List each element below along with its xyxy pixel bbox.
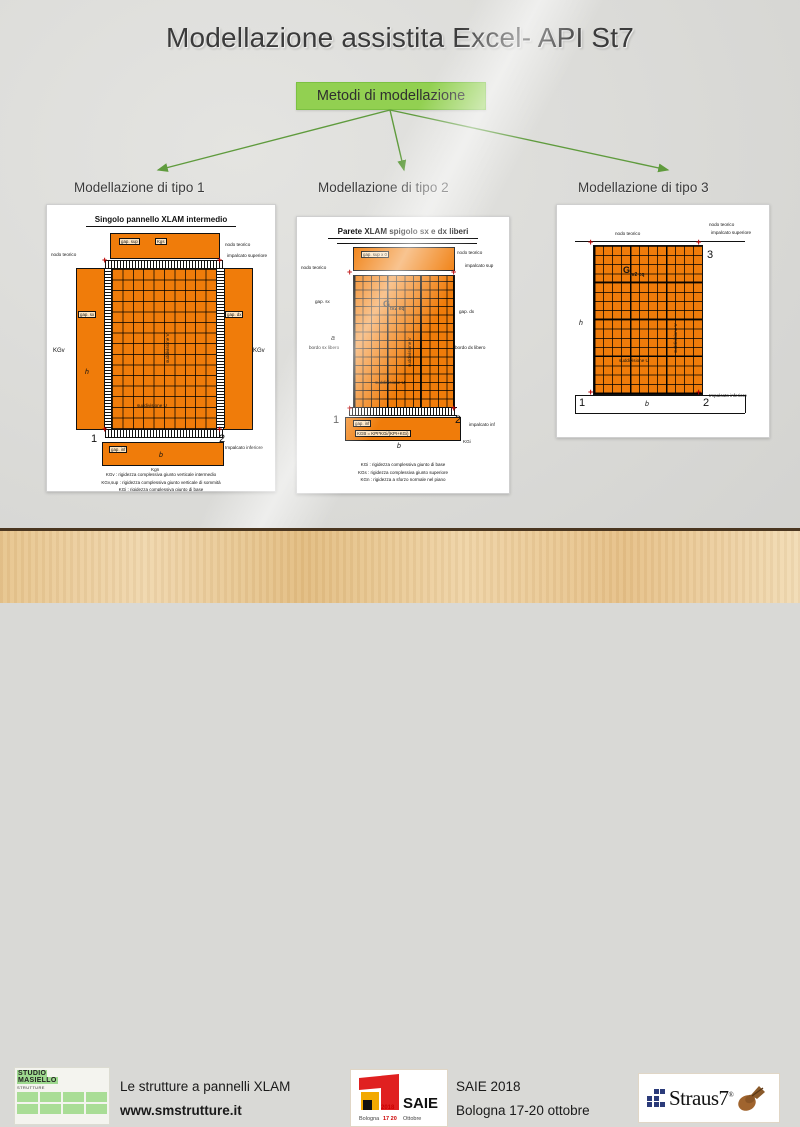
floor-top-label: impalcato superiore: [711, 230, 751, 235]
top-rule: [337, 243, 477, 244]
callout-1: 1: [579, 397, 585, 409]
dim-h-label: h: [85, 369, 89, 376]
floor-bottom-label: Impalcato inferiore: [709, 393, 747, 398]
top-rule: [575, 241, 745, 242]
gap-inf-label: gap. inf: [353, 420, 371, 427]
callout-2: 2: [703, 397, 709, 409]
gap-sup-label: gap. sup x 0: [361, 251, 389, 258]
side-solid-left: [76, 268, 106, 430]
top-beam: [110, 233, 220, 259]
floor-bottom-label: impalcato inf: [469, 422, 495, 427]
gap-sup-label: gap. sup: [119, 238, 140, 245]
dim-h-label: h: [579, 320, 583, 327]
node-marker-left-bottom: +: [588, 389, 593, 396]
logo-word-masiello: MASIELLO: [17, 1077, 107, 1084]
diagram-2-title: Parete XLAM spigolo sx e dx liberi: [297, 227, 509, 239]
node-marker-right: +: [451, 269, 456, 276]
gap-inf-label: gap. inf: [109, 446, 127, 453]
spring-bottom: [349, 407, 457, 416]
diagram-card-2: Parete XLAM spigolo sx e dx liberi gap. …: [296, 216, 510, 494]
subdivision-u-label: suddivisione U: [375, 380, 405, 385]
dim-b-label: b: [645, 401, 649, 408]
presentation-slide: Modellazione assistita Excel- API St7 Me…: [0, 0, 800, 600]
studio-masiello-logo: STUDIO MASIELLO STRUTTURE: [14, 1067, 110, 1125]
methods-box-label: Metodi di modellazione: [317, 88, 465, 104]
node-marker-left-bottom: +: [347, 405, 352, 412]
dim-b-label: b: [397, 443, 401, 450]
bordo-sx-label: bordo sx libero: [309, 345, 339, 350]
gap-sx-label: gap. sx: [315, 299, 330, 304]
shear-modulus-symbol: Gtv2 eq: [383, 299, 404, 312]
event-line-1: SAIE 2018: [456, 1079, 521, 1094]
logo-square-grid: [17, 1092, 107, 1114]
callout-2: 2: [219, 433, 225, 445]
legend-line: KGi : rigidezza complessiva giunto di ba…: [47, 486, 275, 492]
node-left-label: nodo teorico: [301, 265, 326, 270]
event-line-2: Bologna 17-20 ottobre: [456, 1103, 590, 1118]
subdivision-v-label: suddivisione V: [165, 333, 170, 363]
callout-2: 2: [455, 414, 461, 426]
side-solid-right: [223, 268, 253, 430]
subdivision-v-label: suddivisione V: [407, 337, 412, 367]
gap-sx-label: gap. sx: [78, 311, 96, 318]
node-right-label: nodo teorico: [225, 242, 250, 247]
node-marker-right: +: [696, 239, 701, 246]
diagram-2-legend: KGi : rigidezza complessiva giunto di ba…: [297, 461, 509, 484]
footer-band: STUDIO MASIELLO STRUTTURE Le strutture a…: [0, 528, 800, 603]
node-marker-left-bottom: +: [102, 426, 107, 433]
legend-line: KGi : rigidezza complessiva giunto di ba…: [297, 461, 509, 469]
node-marker-right: +: [217, 257, 222, 264]
callout-3: 3: [707, 249, 713, 261]
legend-line: KGv : rigidezza complessiva giunto verti…: [47, 471, 275, 479]
base-box-bottom: [575, 413, 745, 414]
node-marker-right-bottom: +: [451, 405, 456, 412]
footer-line-1: Le strutture a pannelli XLAM: [120, 1079, 290, 1094]
floor-bottom-label: Impalcato inferiore: [225, 445, 263, 450]
column-heading-1: Modellazione di tipo 1: [74, 180, 205, 195]
spring-right: [216, 268, 225, 428]
k-formula-label: KGB = KPI*KGi/(KPI+KGi): [355, 430, 411, 437]
legend-line: KGv,sup : rigidezza complessiva giunto v…: [47, 479, 275, 487]
node-marker-right-bottom: +: [696, 389, 701, 396]
svg-text:2018: 2018: [381, 1105, 395, 1111]
node-marker-left: +: [102, 257, 107, 264]
logo-word-strutture: STRUTTURE: [17, 1085, 107, 1090]
diagram-1-legend: KGv : rigidezza complessiva giunto verti…: [47, 471, 275, 492]
svg-text:17 20: 17 20: [383, 1116, 397, 1122]
column-heading-3: Modellazione di tipo 3: [578, 180, 709, 195]
node-marker-right-bottom: +: [217, 426, 222, 433]
svg-text:Bologna: Bologna: [359, 1116, 380, 1122]
dim-a-label: a: [331, 335, 335, 342]
subdivision-u-label: suddivisione U: [137, 403, 167, 408]
k-sup-label: Kgs: [155, 238, 167, 245]
subdivision-v-label: suddivisione V: [673, 323, 678, 353]
arrow-left-icon: [158, 110, 390, 170]
svg-text:Ottobre: Ottobre: [403, 1116, 421, 1122]
node-right-label: nodo teorico: [709, 222, 734, 227]
diagram-1-title: Singolo pannello XLAM intermedio: [47, 215, 275, 227]
dim-b-label: b: [159, 452, 163, 459]
logo-word-studio: STUDIO: [17, 1070, 107, 1077]
diagram-card-1: Singolo pannello XLAM intermedio gap. su…: [46, 204, 276, 492]
subdivision-u-label: suddivisione U: [619, 358, 649, 363]
node-left-label: nodo teorico: [615, 231, 640, 236]
diagram-card-3: Gtv2 eq suddivisione V suddivisione U b …: [556, 204, 770, 438]
spring-bottom: [105, 429, 223, 438]
violin-icon: [735, 1083, 769, 1113]
floor-top-label: impalcato sup: [465, 263, 493, 268]
gap-dx-label: gap. dx: [225, 311, 243, 318]
kgv-left-label: KGv: [53, 348, 65, 354]
column-heading-2: Modellazione di tipo 2: [318, 180, 449, 195]
svg-text:SAIE: SAIE: [403, 1095, 438, 1112]
mesh-panel: [353, 275, 455, 409]
node-right-label: nodo teorico: [457, 250, 482, 255]
mesh-panel: [593, 245, 703, 395]
kgi-right-label: KGi: [463, 439, 471, 444]
callout-1: 1: [91, 433, 97, 445]
straus7-blocks-icon: [647, 1089, 665, 1107]
node-left-label: nodo teorico: [51, 252, 76, 257]
page-title: Modellazione assistita Excel- API St7: [0, 22, 800, 54]
legend-line: KGs : rigidezza complessiva giunto super…: [297, 469, 509, 477]
floor-top-label: impalcato superiore: [227, 253, 267, 258]
base-box-left: [575, 395, 576, 413]
saie-logo: 2018 SAIE Bologna 17 20 Ottobre: [350, 1069, 448, 1127]
legend-line: KGn : rigidezza a sforzo normale nel pia…: [297, 476, 509, 484]
straus7-wordmark: Straus7®: [669, 1086, 733, 1111]
bordo-dx-label: bordo dx libero: [455, 345, 485, 350]
arrow-center-icon: [390, 110, 404, 170]
footer-website-link[interactable]: www.smstrutture.it: [120, 1103, 242, 1118]
callout-1: 1: [333, 414, 339, 426]
arrow-right-icon: [390, 110, 668, 170]
gap-dx-label: gap. dx: [459, 309, 474, 314]
kgv-right-label: KGv: [253, 348, 265, 354]
straus7-logo: Straus7®: [638, 1073, 780, 1123]
shear-modulus-symbol: Gtv2 eq: [623, 265, 644, 278]
saie-logo-graphic: 2018 SAIE Bologna 17 20 Ottobre: [351, 1070, 447, 1126]
node-marker-left: +: [347, 269, 352, 276]
methods-box: Metodi di modellazione: [296, 82, 486, 110]
node-marker-left: +: [588, 239, 593, 246]
